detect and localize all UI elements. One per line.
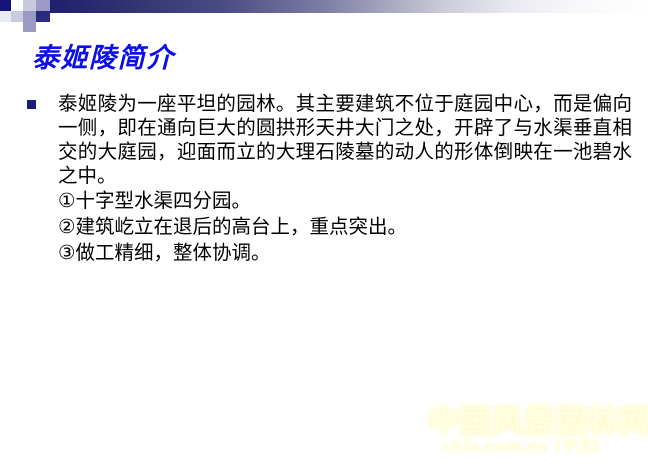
deco-tile-4 — [36, 0, 50, 11]
watermark-sub-text: chla.com.cn (中文) — [442, 437, 600, 455]
square-bullet-icon — [27, 100, 36, 109]
top-decoration-band — [0, 0, 648, 32]
deco-tile-6 — [11, 11, 23, 22]
numbered-item-2: ②建筑屹立在退后的高台上，重点突出。 — [58, 214, 632, 240]
deco-tile-2 — [11, 0, 23, 11]
page-title: 泰姬陵简介 — [32, 43, 175, 75]
slide-body: 泰姬陵为一座平坦的园林。其主要建筑不位于庭园中心，而是偏向一侧，即在通向巨大的圆… — [22, 92, 632, 266]
deco-tile-9 — [0, 22, 11, 32]
body-paragraph: 泰姬陵为一座平坦的园林。其主要建筑不位于庭园中心，而是偏向一侧，即在通向巨大的圆… — [58, 92, 632, 188]
gradient-bar — [0, 0, 648, 13]
deco-tile-1 — [0, 0, 11, 11]
deco-tile-3 — [23, 0, 36, 11]
numbered-item-3: ③做工精细，整体协调。 — [58, 240, 632, 266]
deco-tile-5 — [0, 11, 11, 22]
deco-tile-8 — [36, 11, 50, 22]
deco-tile-12 — [36, 22, 50, 32]
deco-tile-7 — [23, 11, 36, 22]
watermark: 中国风景园林网 chla.com.cn (中文) — [428, 404, 638, 462]
slide-canvas: 泰姬陵简介 泰姬陵为一座平坦的园林。其主要建筑不位于庭园中心，而是偏向一侧，即在… — [0, 0, 648, 466]
numbered-item-1: ①十字型水渠四分园。 — [58, 188, 632, 214]
bullet-list-item: 泰姬陵为一座平坦的园林。其主要建筑不位于庭园中心，而是偏向一侧，即在通向巨大的圆… — [22, 92, 632, 266]
deco-tile-11 — [23, 22, 36, 32]
deco-tile-10 — [11, 22, 23, 32]
watermark-main-text: 中国风景园林网 — [428, 404, 638, 440]
